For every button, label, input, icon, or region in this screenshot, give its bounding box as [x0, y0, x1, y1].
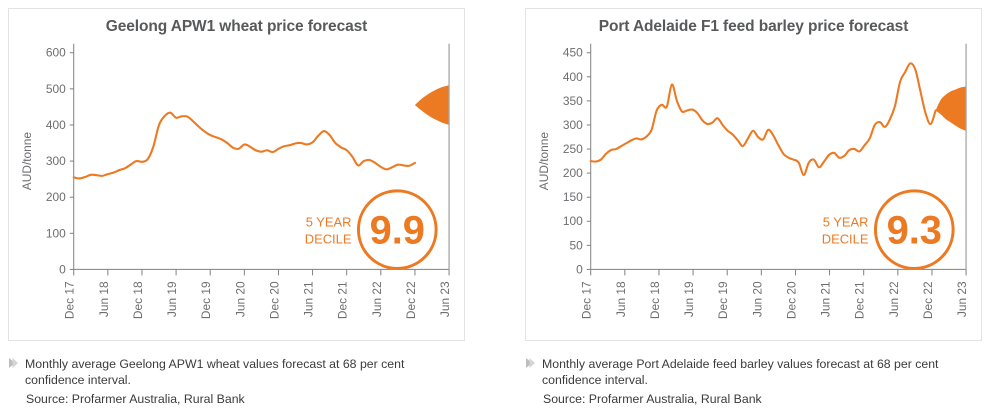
chart-column-right: Port Adelaide F1 feed barley price forec… — [500, 0, 1000, 418]
y-axis-title: AUD/tonne — [537, 132, 551, 191]
y-axis-tick-label: 200 — [563, 166, 583, 180]
decile-value: 9.3 — [887, 209, 942, 253]
y-axis-tick-label: 250 — [563, 142, 583, 156]
chart-canvas-left: 0100200300400500600AUD/tonneDec 17Jun 18… — [9, 9, 464, 340]
x-axis-tick-label: Jun 23 — [438, 281, 452, 317]
x-axis-tick-label: Dec 22 — [921, 281, 935, 319]
forecast-confidence-fan — [936, 86, 966, 130]
price-line — [591, 63, 936, 175]
x-axis-tick-label: Jun 23 — [955, 281, 969, 317]
decile-label-line2: DECILE — [822, 232, 869, 247]
x-axis-tick-label: Dec 19 — [199, 281, 213, 319]
x-axis-tick-label: Jun 18 — [614, 281, 628, 317]
chart-panel-geelong-wheat: Geelong APW1 wheat price forecast 010020… — [8, 8, 465, 341]
footnote-text-left: Monthly average Geelong APW1 wheat value… — [25, 356, 458, 389]
y-axis-tick-label: 600 — [46, 46, 66, 60]
footnote-source-right: Source: Profarmer Australia, Rural Bank — [543, 391, 980, 407]
y-axis-tick-label: 400 — [563, 70, 583, 84]
forecast-charts-page: Geelong APW1 wheat price forecast 010020… — [0, 0, 1000, 418]
y-axis-tick-label: 500 — [46, 82, 66, 96]
decile-label-line1: 5 YEAR — [306, 215, 352, 230]
y-axis-tick-label: 350 — [563, 94, 583, 108]
chart-canvas-right: 050100150200250300350400450AUD/tonneDec … — [526, 9, 981, 340]
y-axis-tick-label: 300 — [46, 154, 66, 168]
x-axis-tick-label: Jun 22 — [887, 281, 901, 317]
x-axis-tick-label: Dec 22 — [404, 281, 418, 319]
y-axis-tick-label: 0 — [59, 262, 66, 276]
x-axis-tick-label: Dec 17 — [580, 281, 594, 319]
x-axis-tick-label: Jun 18 — [97, 281, 111, 317]
y-axis-tick-label: 0 — [576, 262, 583, 276]
decile-label-line1: 5 YEAR — [823, 215, 869, 230]
y-axis-title: AUD/tonne — [20, 132, 34, 191]
x-axis-tick-label: Jun 19 — [165, 281, 179, 317]
y-axis-tick-label: 100 — [46, 226, 66, 240]
decile-value: 9.9 — [370, 209, 425, 253]
x-axis-tick-label: Jun 20 — [750, 281, 764, 317]
x-axis-tick-label: Dec 21 — [336, 281, 350, 319]
footnote-text-right: Monthly average Port Adelaide feed barle… — [542, 356, 980, 389]
y-axis-tick-label: 50 — [569, 238, 583, 252]
x-axis-tick-label: Dec 17 — [63, 281, 77, 319]
x-axis-tick-label: Jun 22 — [370, 281, 384, 317]
x-axis-tick-label: Dec 19 — [716, 281, 730, 319]
x-axis-tick-label: Dec 20 — [267, 281, 281, 319]
decile-label-line2: DECILE — [305, 232, 352, 247]
chart-panel-port-adelaide-barley: Port Adelaide F1 feed barley price forec… — [525, 8, 982, 341]
x-axis-tick-label: Jun 21 — [819, 281, 833, 317]
footnote-left: Monthly average Geelong APW1 wheat value… — [8, 356, 458, 407]
x-axis-tick-label: Jun 21 — [302, 281, 316, 317]
y-axis-tick-label: 400 — [46, 118, 66, 132]
y-axis-tick-label: 300 — [563, 118, 583, 132]
y-axis-tick-label: 200 — [46, 190, 66, 204]
chart-column-left: Geelong APW1 wheat price forecast 010020… — [0, 0, 500, 418]
x-axis-tick-label: Dec 20 — [784, 281, 798, 319]
bullet-arrow-icon — [525, 357, 536, 371]
footnote-source-left: Source: Profarmer Australia, Rural Bank — [26, 391, 458, 407]
price-line — [74, 113, 415, 179]
x-axis-tick-label: Jun 19 — [682, 281, 696, 317]
x-axis-tick-label: Jun 20 — [233, 281, 247, 317]
x-axis-tick-label: Dec 18 — [648, 281, 662, 319]
footnote-right: Monthly average Port Adelaide feed barle… — [525, 356, 980, 407]
bullet-arrow-icon — [8, 357, 19, 371]
x-axis-tick-label: Dec 18 — [131, 281, 145, 319]
x-axis-tick-label: Dec 21 — [853, 281, 867, 319]
y-axis-tick-label: 450 — [563, 46, 583, 60]
forecast-confidence-fan — [415, 85, 449, 125]
y-axis-tick-label: 100 — [563, 214, 583, 228]
y-axis-tick-label: 150 — [563, 190, 583, 204]
